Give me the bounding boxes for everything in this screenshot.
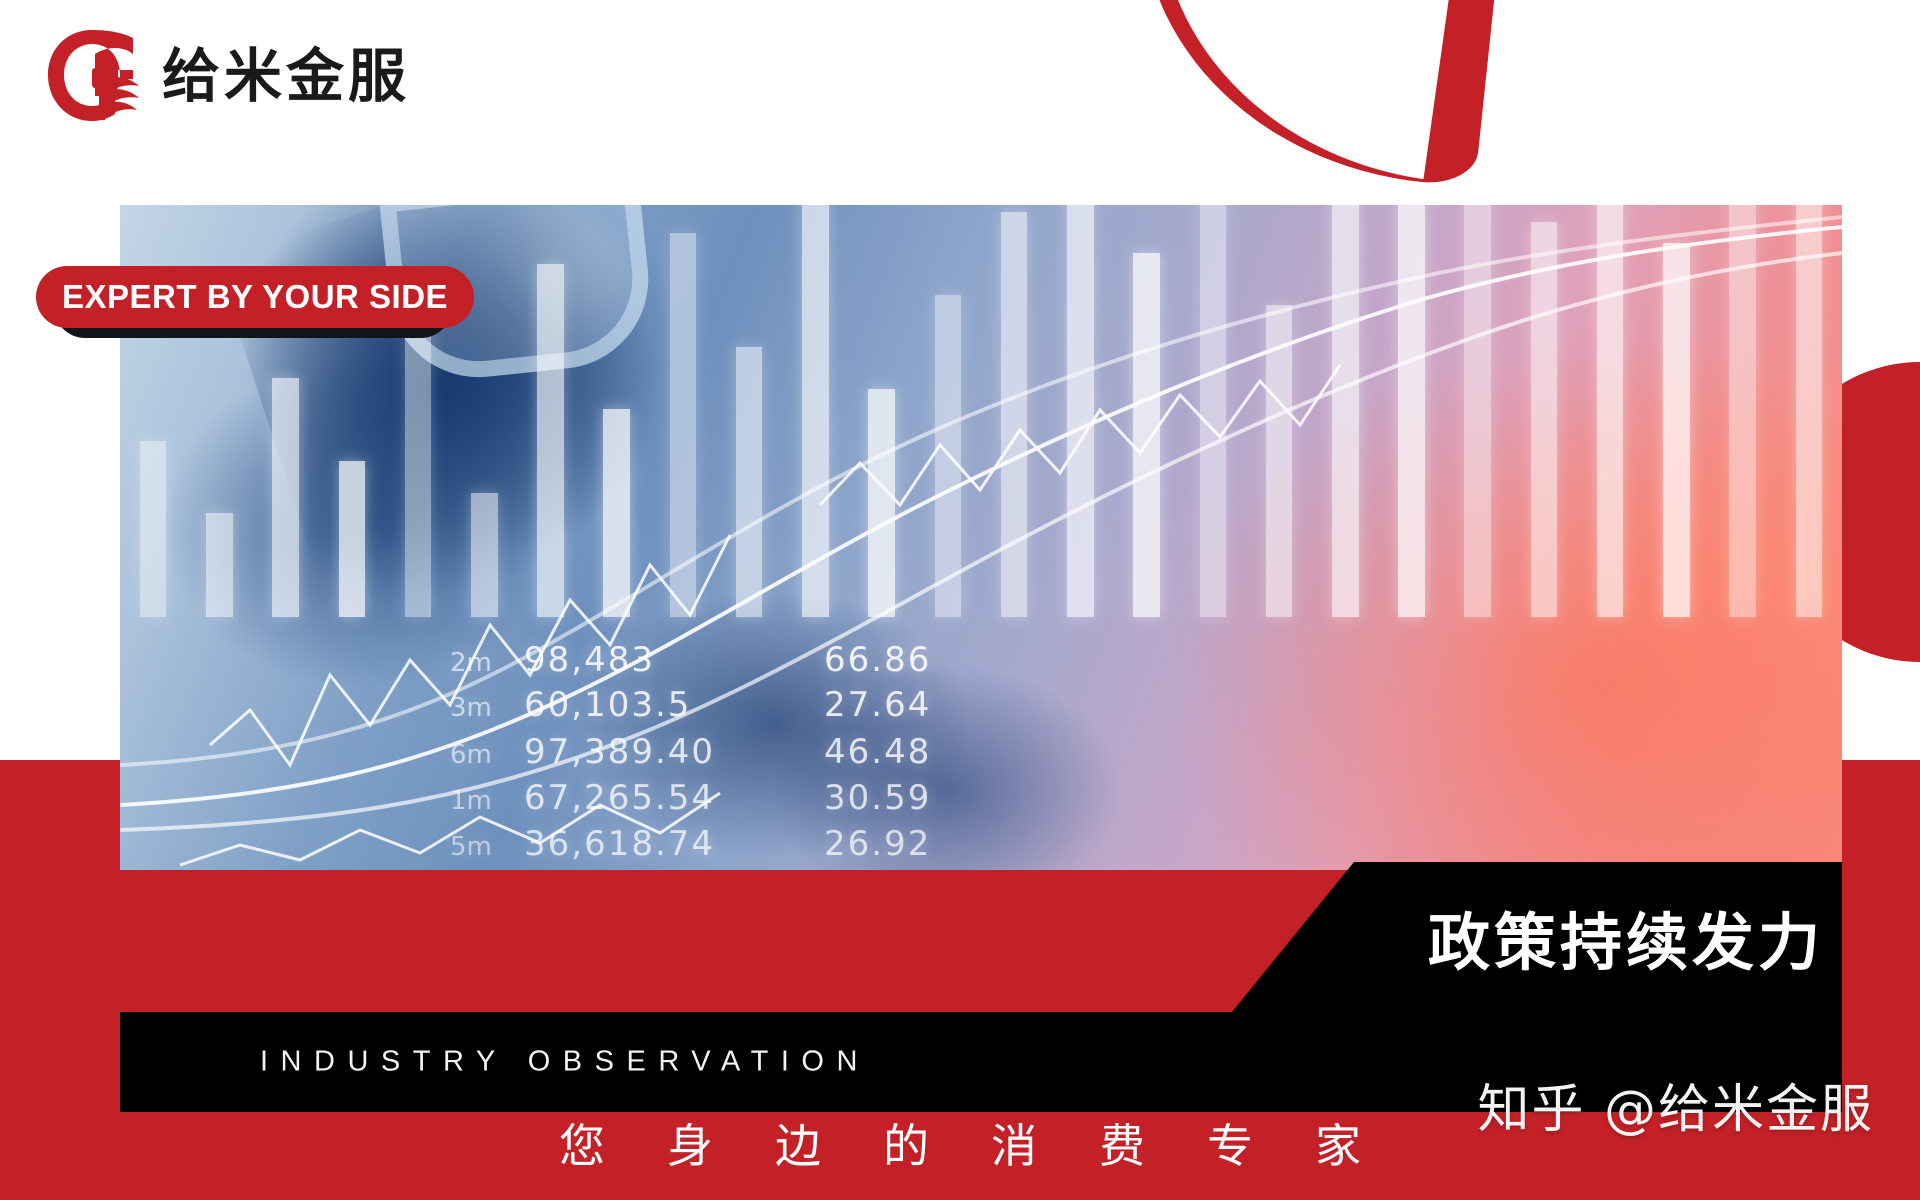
- ticker-value-right: 46.48: [824, 732, 931, 772]
- gei-mi-g-wing-logo-icon: [40, 24, 144, 128]
- ticker-value-right: 26.92: [824, 824, 931, 864]
- ticker-value-right: 66.86: [824, 640, 931, 680]
- ticker-label: 6m: [450, 740, 524, 770]
- ticker-row: 2m98,48366.86: [450, 640, 931, 680]
- headline-text: 政策持续发力: [1428, 892, 1824, 982]
- ticker-row: 1m67,265.5430.59: [450, 778, 931, 818]
- ticker-value-left: 97,389.40: [524, 732, 824, 772]
- ticker-value-left: 98,483: [524, 640, 824, 680]
- zhihu-watermark: 知乎 @给米金服: [1477, 1067, 1874, 1142]
- ticker-row: 3m60,103.527.64: [450, 685, 931, 725]
- brand-name: 给米金服: [162, 47, 410, 105]
- expert-badge-label: EXPERT BY YOUR SIDE: [62, 278, 448, 316]
- ticker-value-left: 67,265.54: [524, 778, 824, 818]
- ticker-label: 2m: [450, 648, 524, 678]
- hero-ticker-values: 2m98,48366.863m60,103.527.646m97,389.404…: [120, 640, 1842, 870]
- brand-logo[interactable]: 给米金服: [40, 24, 410, 128]
- ticker-label: 3m: [450, 693, 524, 723]
- ticker-row: 6m97,389.4046.48: [450, 732, 931, 772]
- industry-observation-label: INDUSTRY OBSERVATION: [260, 1046, 870, 1079]
- ticker-label: 5m: [450, 832, 524, 862]
- ticker-value-right: 27.64: [824, 685, 931, 725]
- page-header: 给米金服: [0, 0, 1920, 168]
- expert-badge[interactable]: EXPERT BY YOUR SIDE: [36, 266, 474, 328]
- ticker-value-left: 60,103.5: [524, 685, 824, 725]
- ticker-label: 1m: [450, 786, 524, 816]
- ticker-value-right: 30.59: [824, 778, 931, 818]
- ticker-row: 5m36,618.7426.92: [450, 824, 931, 864]
- ticker-value-left: 36,618.74: [524, 824, 824, 864]
